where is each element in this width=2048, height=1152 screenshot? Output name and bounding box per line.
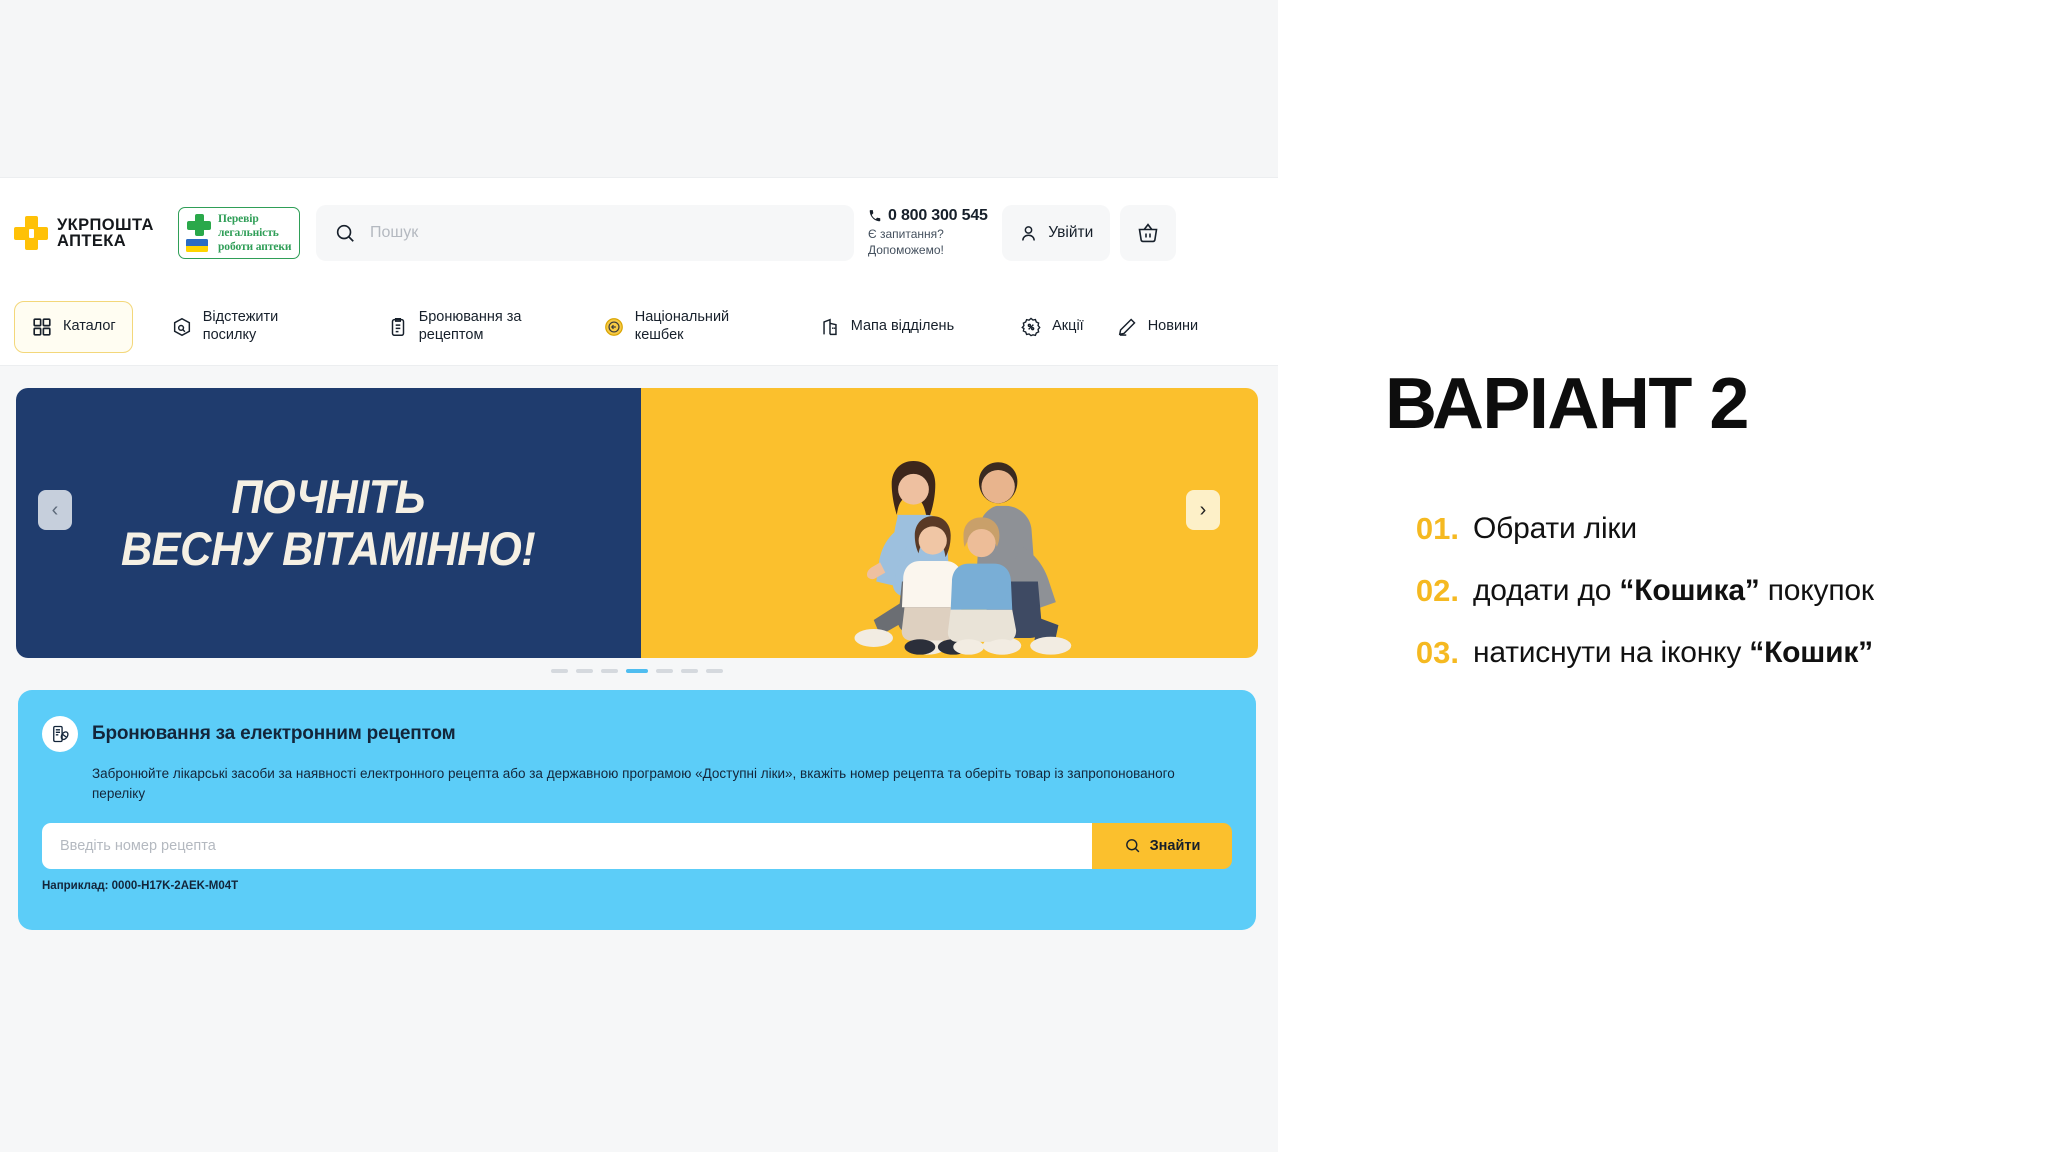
phone-number[interactable]: 0 800 300 545 (888, 207, 988, 225)
carousel-dot-4[interactable] (626, 669, 648, 673)
legality-line-1: Перевір (218, 212, 291, 226)
hero-title-line-2: ВЕСНУ ВІТАМІННО! (121, 523, 535, 575)
legality-badge-icons (186, 214, 212, 252)
nav-label-national-cashback: Національний кешбек (635, 309, 753, 343)
main-navigation: Каталог Відстежити посилку Бронювання за… (0, 288, 1278, 366)
ukraine-flag-icon (186, 239, 208, 252)
phone-sub-line-1: Є запитання? (868, 227, 988, 243)
pharmacy-cross-icon (14, 216, 48, 250)
login-button-label: Увійти (1048, 224, 1093, 242)
nav-item-branch-map[interactable]: Мапа відділень (803, 301, 970, 353)
hero-banner-carousel[interactable]: ПОЧНІТЬ ВЕСНУ ВІТАМІННО! (16, 388, 1258, 658)
nav-label-branch-map: Мапа відділень (851, 318, 954, 335)
browser-chrome-band (0, 0, 1278, 178)
search-input[interactable]: Пошук (370, 224, 418, 242)
green-cross-icon (186, 214, 212, 236)
nav-label-news: Новини (1148, 318, 1198, 335)
phone-icon (868, 209, 882, 223)
prescription-booking-card: Бронювання за електронним рецептом Забро… (18, 690, 1256, 930)
nav-item-national-cashback[interactable]: Національний кешбек (587, 301, 769, 353)
site-logo[interactable]: УКРПОШТА АПТЕКА (14, 216, 164, 250)
legality-badge-text: Перевір легальність роботи аптеки (218, 212, 291, 254)
instructions-panel: ВАРІАНТ 2 01.Обрати ліки02.додати до “Ко… (1385, 0, 2048, 1152)
clipboard-icon (387, 316, 409, 338)
prescription-search-button-label: Знайти (1150, 838, 1201, 854)
step-text-2: додати до “Кошика” покупок (1473, 572, 1874, 610)
step-number-2: 02. (1385, 572, 1459, 610)
prescription-icon (42, 716, 78, 752)
prescription-card-description: Забронюйте лікарські засоби за наявності… (92, 764, 1202, 805)
logo-line-2: АПТЕКА (57, 233, 154, 250)
phone-subtext: Є запитання? Допоможемо! (868, 227, 988, 258)
pencil-icon (1116, 316, 1138, 338)
screenshot-root: УКРПОШТА АПТЕКА Перевір легальність робо… (0, 0, 2048, 1152)
chevron-right-icon: › (1200, 500, 1207, 520)
nav-item-catalog[interactable]: Каталог (14, 301, 133, 353)
logo-line-1: УКРПОШТА (57, 217, 154, 234)
carousel-dot-7[interactable] (706, 669, 723, 673)
legality-line-3: роботи аптеки (218, 240, 291, 254)
step-item-2: 02.додати до “Кошика” покупок (1385, 572, 2025, 610)
nav-label-catalog: Каталог (63, 318, 116, 335)
nav-item-news[interactable]: Новини (1100, 301, 1214, 353)
carousel-prev-button[interactable]: ‹ (38, 490, 72, 530)
hero-text-panel: ПОЧНІТЬ ВЕСНУ ВІТАМІННО! (16, 388, 641, 658)
coin-icon (603, 316, 625, 338)
search-bar[interactable]: Пошук (316, 205, 854, 261)
carousel-dot-5[interactable] (656, 669, 673, 673)
panel-title: ВАРІАНТ 2 (1385, 368, 1748, 440)
hero-image-panel (641, 388, 1258, 658)
carousel-dot-6[interactable] (681, 669, 698, 673)
phone-sub-line-2: Допоможемо! (868, 243, 988, 259)
building-map-icon (819, 316, 841, 338)
hero-title-line-1: ПОЧНІТЬ (121, 471, 535, 523)
step-number-1: 01. (1385, 510, 1459, 548)
carousel-dots[interactable] (16, 662, 1258, 680)
prescription-search-button[interactable]: Знайти (1092, 823, 1232, 869)
nav-label-prescription-booking: Бронювання за рецептом (419, 309, 537, 343)
parcel-track-icon (171, 316, 193, 338)
grid-icon (31, 316, 53, 338)
prescription-example-hint: Наприклад: 0000-H17K-2AEK-M04T (42, 880, 1232, 892)
step-text-1: Обрати ліки (1473, 510, 1637, 548)
family-illustration (672, 402, 1240, 659)
logo-text: УКРПОШТА АПТЕКА (57, 217, 154, 250)
steps-list: 01.Обрати ліки02.додати до “Кошика” поку… (1385, 510, 2025, 695)
carousel-dot-2[interactable] (576, 669, 593, 673)
family-photo (641, 388, 1258, 658)
carousel-dot-1[interactable] (551, 669, 568, 673)
nav-item-track-parcel[interactable]: Відстежити посилку (155, 301, 337, 353)
carousel-next-button[interactable]: › (1186, 490, 1220, 530)
user-icon (1018, 223, 1039, 244)
legality-line-2: легальність (218, 226, 291, 240)
step-item-3: 03.натиснути на іконку “Кошик” (1385, 634, 2025, 672)
cart-button[interactable] (1120, 205, 1176, 261)
step-text-3: натиснути на іконку “Кошик” (1473, 634, 1873, 672)
nav-item-promotions[interactable]: Акції (1004, 301, 1100, 353)
contact-phone-block: 0 800 300 545 Є запитання? Допоможемо! (868, 207, 988, 258)
nav-item-prescription-booking[interactable]: Бронювання за рецептом (371, 301, 553, 353)
login-button[interactable]: Увійти (1002, 205, 1110, 261)
hero-title: ПОЧНІТЬ ВЕСНУ ВІТАМІННО! (121, 471, 535, 574)
discount-badge-icon (1020, 316, 1042, 338)
prescription-card-title: Бронювання за електронним рецептом (92, 723, 455, 745)
chevron-left-icon: ‹ (52, 500, 59, 520)
prescription-search-form: Знайти (42, 823, 1232, 869)
nav-label-track-parcel: Відстежити посилку (203, 309, 321, 343)
step-item-1: 01.Обрати ліки (1385, 510, 2025, 548)
prescription-card-header: Бронювання за електронним рецептом (42, 716, 1232, 752)
site-header: УКРПОШТА АПТЕКА Перевір легальність робо… (0, 178, 1278, 288)
prescription-number-input[interactable] (42, 823, 1092, 869)
search-icon (334, 222, 356, 244)
step-number-3: 03. (1385, 634, 1459, 672)
search-icon (1124, 837, 1141, 854)
basket-icon (1136, 221, 1160, 245)
browser-window: УКРПОШТА АПТЕКА Перевір легальність робо… (0, 0, 1278, 1152)
phone-row[interactable]: 0 800 300 545 (868, 207, 988, 225)
nav-label-promotions: Акції (1052, 318, 1084, 335)
carousel-dot-3[interactable] (601, 669, 618, 673)
prescription-glyph-icon (50, 724, 70, 744)
legality-check-badge[interactable]: Перевір легальність роботи аптеки (178, 207, 300, 259)
